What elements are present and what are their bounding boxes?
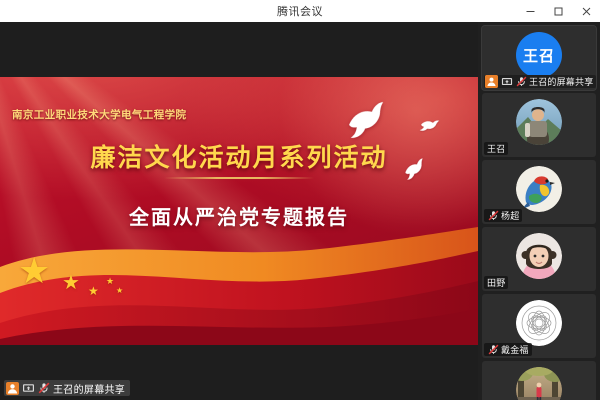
participant-footer: 戴金福 [484,343,532,356]
participant-tile[interactable]: 田野 [482,227,596,291]
star-icon: ★ [88,285,99,297]
star-icon: ★ [106,277,114,286]
avatar: 王召 [516,32,562,78]
maximize-button[interactable] [544,0,572,22]
participant-footer: 杨超 [484,209,522,222]
dove-icon [418,116,440,137]
window-title: 腾讯会议 [277,3,323,19]
avatar [516,166,562,212]
avatar [516,367,562,400]
svg-text:· · ·: · · · [537,304,542,308]
presentation-slide: 南京工业职业技术大学电气工程学院 廉洁文化活动月系列活动 全面从严治党专题报告 … [0,77,478,345]
participant-footer: 田野 [484,276,508,289]
participant-name: 戴金福 [501,343,529,356]
screen-share-icon [22,382,35,395]
avatar [516,233,562,279]
mic-muted-icon [38,382,50,394]
host-icon [485,75,498,88]
screen-share-status-banner: 王召的屏幕共享 [4,380,130,396]
participant-rail[interactable]: 王召 王召的屏幕共享 [478,22,600,400]
participant-footer: 王召 [484,142,508,155]
share-banner-label: 王召的屏幕共享 [53,381,125,396]
participant-name: 田野 [487,276,505,289]
slide-subtitle: 全面从严治党专题报告 [0,201,478,230]
participant-tile[interactable]: 王召 [482,93,596,157]
participant-tile[interactable]: · · · · · · 戴金福 [482,294,596,358]
dove-icon [342,99,391,146]
avatar: · · · · · · [516,300,562,346]
title-bar: 腾讯会议 [0,0,600,23]
minimize-button[interactable] [516,0,544,22]
participant-footer: 王召的屏幕共享 [484,75,596,88]
host-icon [6,382,19,395]
dove-icon [401,157,430,185]
mic-muted-icon [487,210,499,222]
participant-tile[interactable]: 王召 王召的屏幕共享 [482,26,596,90]
mic-muted-icon [487,344,499,356]
close-button[interactable] [572,0,600,22]
star-icon: ★ [116,287,123,295]
participant-tile[interactable]: 王丽 [482,361,596,400]
participant-tile[interactable]: 杨超 [482,160,596,224]
doves-decoration [346,85,456,175]
title-divider [164,177,314,179]
participant-name: 王召 [487,142,505,155]
participant-name: 杨超 [501,209,519,222]
screen-share-icon [500,75,513,88]
window-controls [516,0,600,22]
svg-text:· · ·: · · · [537,339,542,343]
tencent-meeting-window: 腾讯会议 南京工业职业技术大学电气工程学院 廉洁文化活动月系列活动 全面从严治党… [0,0,600,400]
avatar [516,99,562,145]
star-icon: ★ [62,273,80,293]
flag-ribbon-decoration: ★ ★ ★ ★ ★ [0,227,478,345]
school-name: 南京工业职业技术大学电气工程学院 [12,107,186,122]
participant-name: 王召的屏幕共享 [529,75,593,88]
star-icon: ★ [18,253,50,289]
mic-muted-icon [515,76,527,88]
shared-screen-stage[interactable]: 南京工业职业技术大学电气工程学院 廉洁文化活动月系列活动 全面从严治党专题报告 … [0,22,478,400]
flag-stars: ★ ★ ★ ★ ★ [10,251,190,311]
